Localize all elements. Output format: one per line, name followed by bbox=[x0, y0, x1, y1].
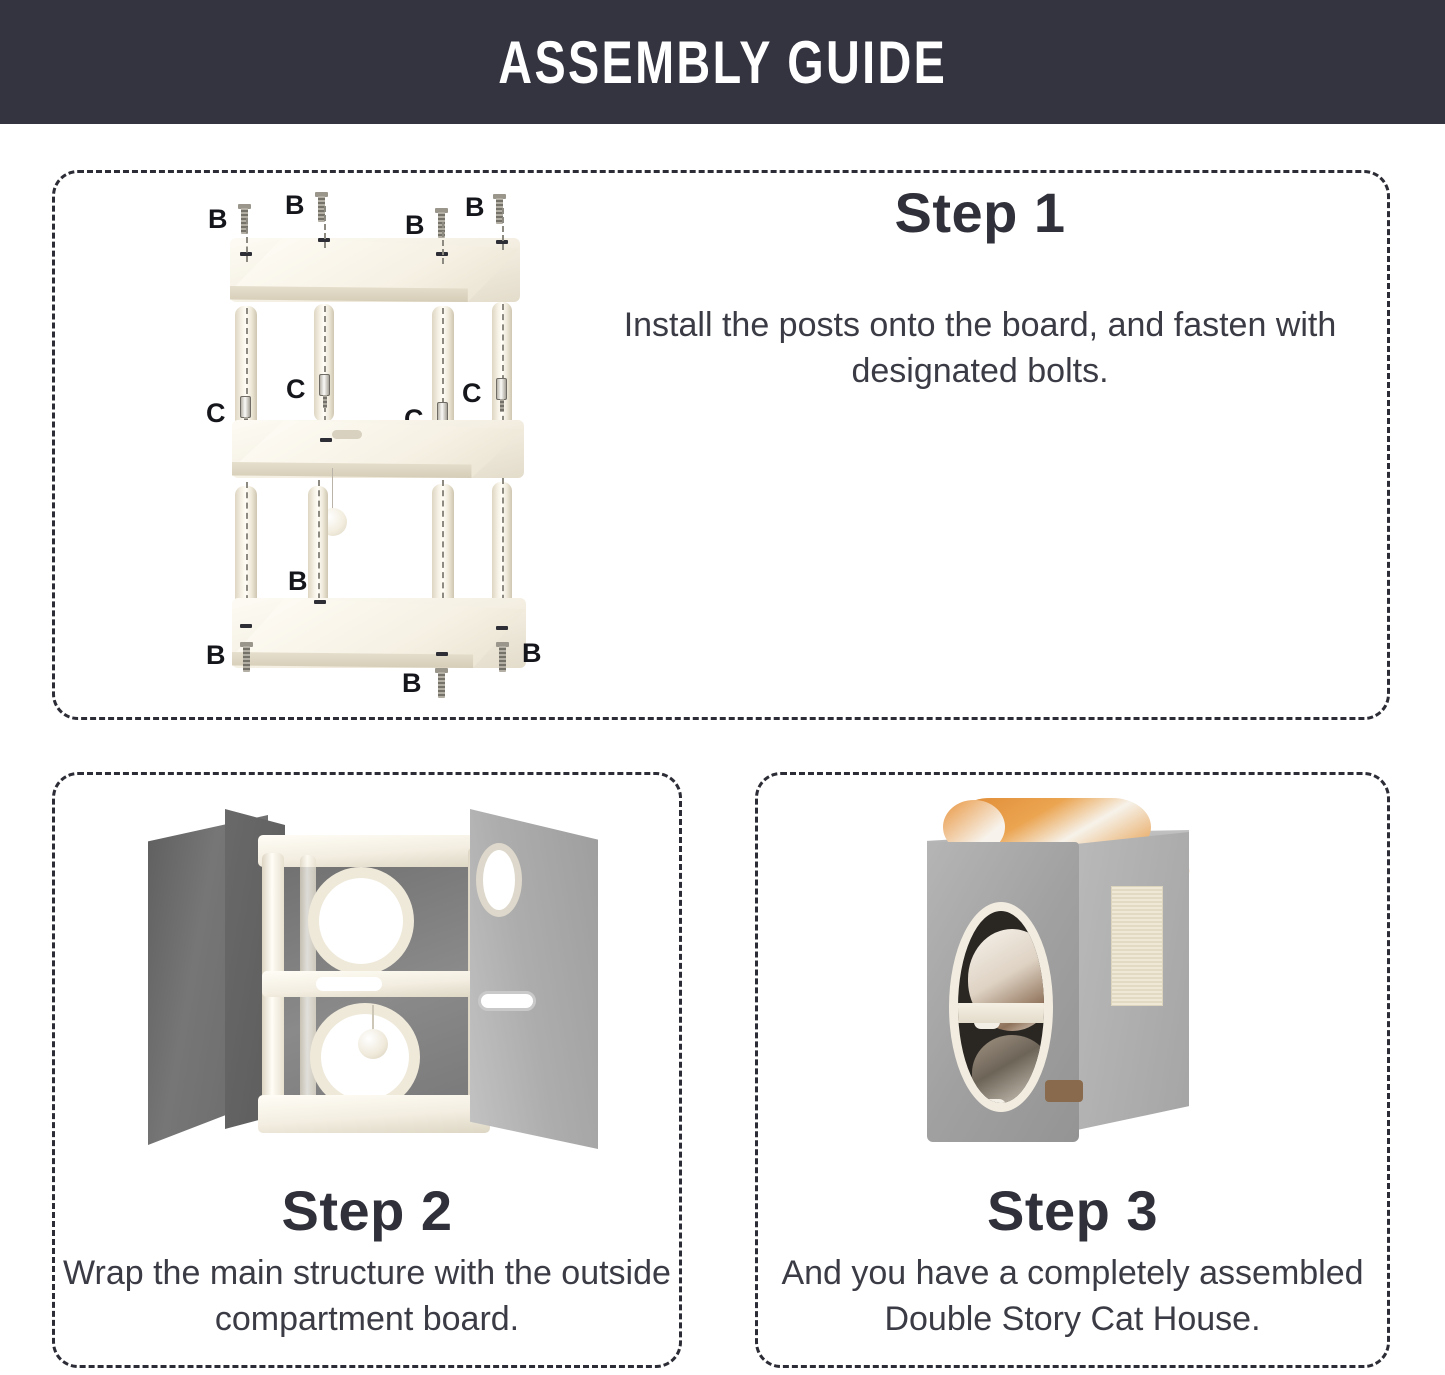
upper-oval-opening bbox=[308, 867, 414, 975]
screw-mark bbox=[496, 626, 508, 630]
step-3-title: Step 3 bbox=[765, 1178, 1380, 1243]
sisal-scratching-panel bbox=[1111, 886, 1163, 1006]
alignment-guide bbox=[502, 208, 504, 250]
step-3-description: And you have a completely assembled Doub… bbox=[765, 1251, 1380, 1342]
board-slot bbox=[332, 430, 362, 439]
screw-mark bbox=[240, 624, 252, 628]
step-1-description: Install the posts onto the board, and fa… bbox=[620, 303, 1340, 394]
screw-mark bbox=[314, 600, 326, 604]
compartment-divider bbox=[958, 1003, 1044, 1023]
exploded-assembly-diagram: B B B B C C C C bbox=[190, 190, 610, 700]
label-bolt-b-top-left: B bbox=[208, 206, 228, 233]
step-3-text-block: Step 3 And you have a completely assembl… bbox=[765, 1178, 1380, 1342]
barrel-nut-icon bbox=[319, 374, 330, 408]
alignment-guide bbox=[246, 218, 248, 262]
label-bolt-b-top-far: B bbox=[465, 194, 485, 221]
toy-string bbox=[332, 468, 333, 512]
base-shelf bbox=[258, 1095, 490, 1133]
label-bolt-b-bottom-left: B bbox=[206, 642, 226, 669]
step-2-text-block: Step 2 Wrap the main structure with the … bbox=[62, 1178, 672, 1342]
header-bar: ASSEMBLY GUIDE bbox=[0, 0, 1445, 124]
step-2-title: Step 2 bbox=[62, 1178, 672, 1243]
finished-cat-house-photo bbox=[905, 790, 1215, 1170]
oval-entrance bbox=[949, 902, 1053, 1112]
barrel-nut-icon bbox=[496, 378, 507, 412]
step-2-description: Wrap the main structure with the outside… bbox=[62, 1251, 672, 1342]
alignment-guide bbox=[502, 304, 504, 432]
screw-icon bbox=[240, 642, 253, 672]
step-1-text-block: Step 1 Install the posts onto the board,… bbox=[620, 180, 1340, 394]
label-bolt-b-top-right: B bbox=[405, 212, 425, 239]
label-connector-c-left: C bbox=[206, 400, 226, 427]
top-shelf bbox=[258, 835, 490, 867]
label-connector-c-mid-left: C bbox=[286, 376, 306, 403]
leather-logo-tag bbox=[1045, 1080, 1083, 1102]
label-bolt-b-bottom-right: B bbox=[522, 640, 542, 667]
page-title: ASSEMBLY GUIDE bbox=[498, 28, 947, 97]
screw-icon bbox=[435, 668, 448, 698]
screw-icon bbox=[315, 192, 328, 222]
screw-mark bbox=[436, 652, 448, 656]
felt-panel-slot bbox=[478, 991, 536, 1011]
middle-board bbox=[232, 420, 524, 478]
screw-icon bbox=[496, 642, 509, 672]
label-bolt-b-top-mid: B bbox=[285, 192, 305, 219]
screw-mark bbox=[320, 438, 332, 442]
label-bolt-b-bottom-front: B bbox=[402, 670, 422, 697]
step-1-title: Step 1 bbox=[620, 180, 1340, 245]
alignment-guide bbox=[442, 222, 444, 264]
bottom-board bbox=[232, 598, 526, 668]
felt-panel-oval-opening bbox=[476, 843, 522, 917]
top-board bbox=[230, 238, 520, 302]
screw-icon bbox=[493, 194, 506, 224]
alignment-guide bbox=[324, 206, 326, 248]
screw-icon bbox=[238, 204, 251, 234]
wrapped-structure-illustration bbox=[140, 795, 600, 1175]
label-bolt-b-bottom-mid: B bbox=[288, 568, 308, 595]
pom-pom-toy bbox=[358, 1029, 388, 1059]
middle-shelf-slot bbox=[316, 977, 382, 991]
label-connector-c-right: C bbox=[462, 380, 482, 407]
